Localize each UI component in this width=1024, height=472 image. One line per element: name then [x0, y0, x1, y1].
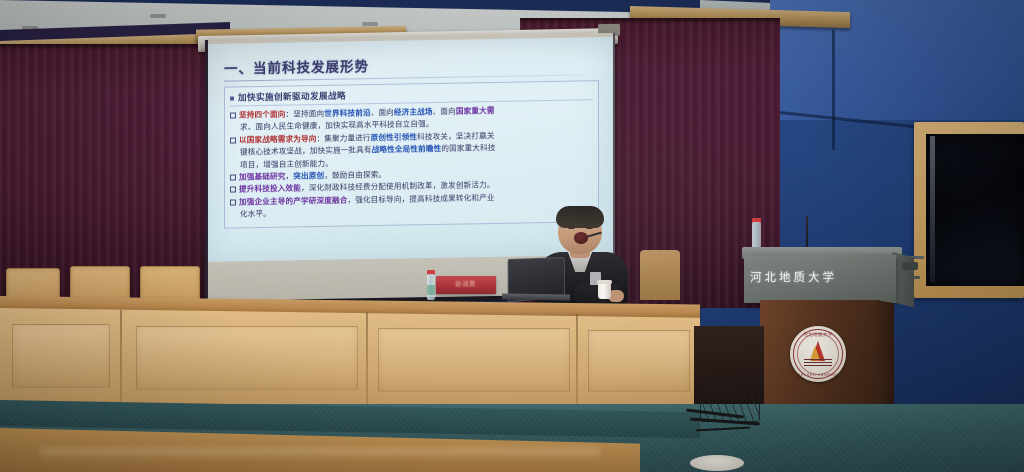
bullet-lead: 以国家战略需求为导向	[239, 134, 316, 144]
hollow-square-bullet-icon	[230, 137, 236, 143]
water-bottle-desk	[427, 274, 435, 300]
stage-curtain-left	[0, 44, 228, 302]
bullet-sep: ，	[347, 195, 355, 204]
curtain-shadow	[0, 44, 228, 50]
bullet-text: 、面向	[433, 107, 456, 116]
microphone-icon	[574, 232, 588, 244]
bullet-lead: 坚持四个面向	[239, 110, 285, 120]
desk-panel	[378, 328, 570, 392]
ceiling-vent-icon	[150, 14, 166, 18]
podium-sign-text: 河北地质大学	[750, 269, 890, 285]
floor-object	[690, 455, 744, 471]
bullet-highlight: 突出原创	[293, 171, 324, 181]
desk-panel	[588, 330, 690, 392]
bullet-highlight: 战略性全局性前瞻性	[372, 144, 442, 154]
podium-front-sign: 河北地质大学	[744, 255, 896, 303]
bottle-label	[427, 285, 435, 295]
university-emblem: 河北地质大学 HEBEI GEO UNIVERSITY	[790, 326, 846, 382]
hollow-square-bullet-icon	[230, 199, 236, 205]
bullet-highlight: 国家重大需	[456, 106, 495, 116]
wave-lines-icon	[804, 359, 832, 367]
podium-body-edge	[876, 300, 894, 421]
paper-cup	[598, 282, 611, 299]
bullet-text: 强化目标导向，提高科技成果转化和产业	[355, 193, 494, 204]
hollow-square-bullet-icon	[230, 187, 236, 193]
bullet-text: 坚持面向	[293, 109, 324, 119]
hollow-square-bullet-icon	[230, 174, 236, 180]
bullet-sep: ，	[301, 184, 309, 193]
bullet-highlight: 原创性引领性	[371, 132, 417, 142]
hollow-square-bullet-icon	[230, 112, 236, 118]
projection-booth-window	[926, 134, 1024, 286]
podium-wing	[902, 262, 918, 270]
chair-back	[140, 266, 200, 300]
water-bottle-podium	[752, 222, 761, 248]
bullet-text: ，鼓励自由探索。	[324, 170, 386, 180]
bullet-highlight: 经济主战场	[394, 107, 433, 117]
bullet-text: 深化财政科技经费分配使用机制改革，激发创新活力。	[309, 180, 495, 192]
bullet-lead: 提升科技投入效能	[239, 184, 301, 194]
curtain-shadow	[520, 18, 780, 24]
bullet-text: 、面向	[371, 108, 394, 117]
bullet-lead: 加强企业主导的产学研深度融合	[239, 195, 347, 206]
chair-right	[640, 250, 680, 300]
speaker-eye	[586, 226, 593, 229]
name-placard: 赵战胜	[436, 276, 496, 294]
wall-seam	[832, 30, 835, 150]
desk-seam	[576, 314, 578, 410]
desk-seam	[366, 312, 368, 410]
slide-title: 一、当前科技发展形势	[224, 51, 599, 78]
bullet-text: 科技攻关，坚决打赢关	[417, 131, 494, 141]
bullet-text: 键核心技术攻坚战，加快实施一批具有	[240, 145, 372, 156]
floor-light-reflection	[40, 448, 600, 460]
desk-panel	[136, 326, 358, 390]
emblem-bottom-text: HEBEI GEO UNIVERSITY	[790, 373, 846, 377]
bullet-highlight: 世界科技前沿	[324, 108, 370, 118]
podium-microphone	[806, 216, 808, 250]
speaker-hair	[556, 206, 604, 228]
window-glare	[930, 136, 935, 282]
square-bullet-icon	[230, 96, 234, 100]
slide-subheading-text: 加快实施创新驱动发展战略	[238, 91, 346, 103]
bullet-lead: 加强基础研究	[239, 172, 285, 182]
cup-lid	[597, 280, 612, 284]
bullet-text: 集聚力量进行	[324, 133, 370, 143]
desk-seam	[120, 310, 122, 408]
bullet-text: 的国家重大科技	[441, 143, 495, 153]
ceiling-vent-icon	[362, 22, 378, 26]
desk-panel	[12, 324, 110, 388]
chair-back	[70, 266, 130, 300]
name-placard-text: 赵战胜	[436, 276, 496, 294]
laptop-keyboard[interactable]	[502, 293, 570, 300]
lecture-hall-photo: 一、当前科技发展形势 加快实施创新驱动发展战略 坚持四个面向：坚持面向世界科技前…	[0, 0, 1024, 472]
emblem-top-text: 河北地质大学	[790, 332, 846, 338]
speaker-eye	[568, 226, 575, 229]
